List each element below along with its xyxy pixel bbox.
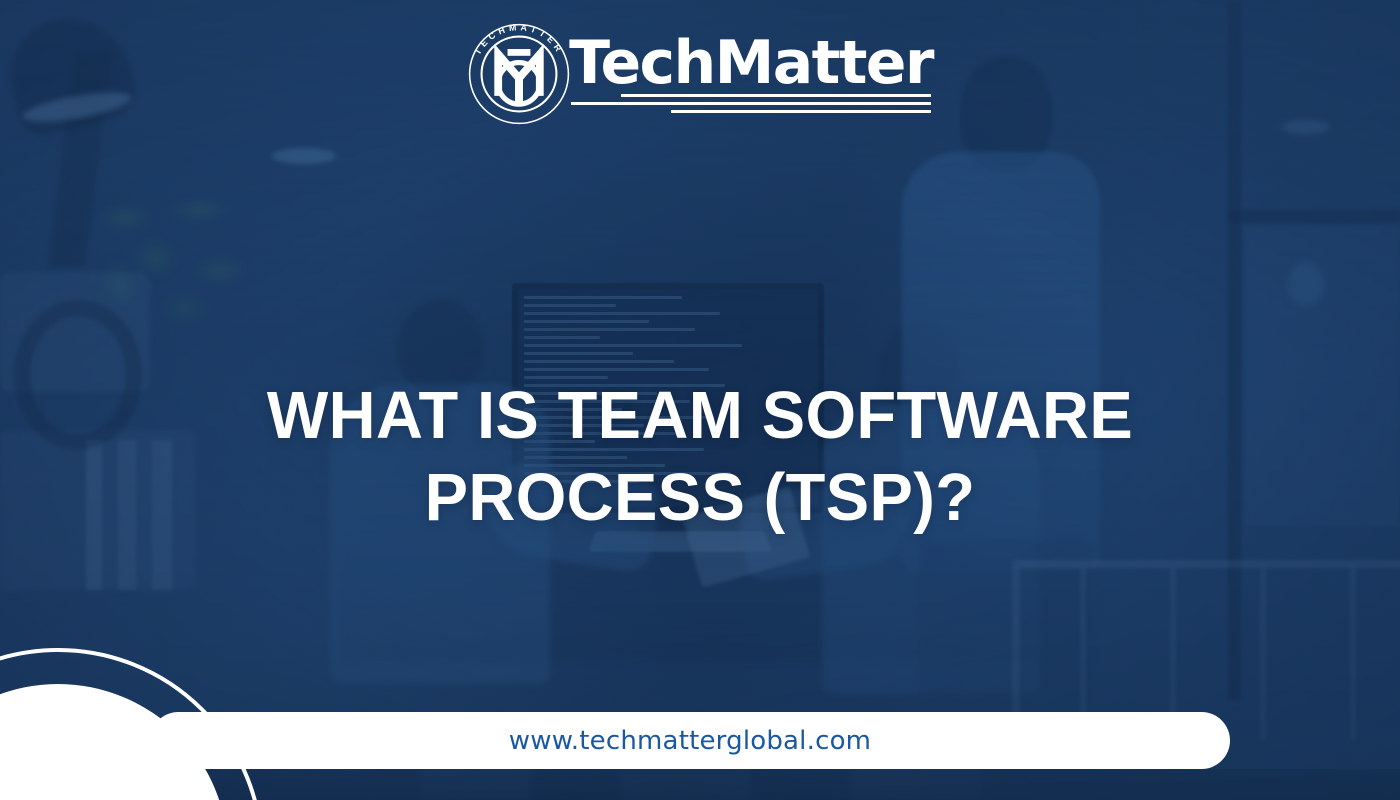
website-url-bar[interactable]: www.techmatterglobal.com (150, 712, 1230, 769)
wordmark-underline-1 (621, 94, 931, 97)
techmatter-circular-emblem-icon: TECHMATTER (467, 22, 571, 126)
wordmark-text: TechMatter (569, 34, 933, 93)
page-title-line-2: Process (TSP)? (21, 457, 1379, 539)
page-title: What is Team Software Process (TSP)? (21, 375, 1379, 539)
wordmark-underline-3 (671, 110, 931, 113)
wordmark-underline-2 (571, 102, 931, 105)
brand-logo[interactable]: TECHMATTER TechMatter (0, 22, 1400, 126)
website-url-text: www.techmatterglobal.com (509, 726, 871, 756)
page-title-line-1: What is Team Software (21, 375, 1379, 457)
wordmark-group: TechMatter (569, 32, 933, 117)
social-card-canvas: TECHMATTER TechMatter (0, 0, 1400, 800)
wordmark-underlines (569, 94, 933, 116)
